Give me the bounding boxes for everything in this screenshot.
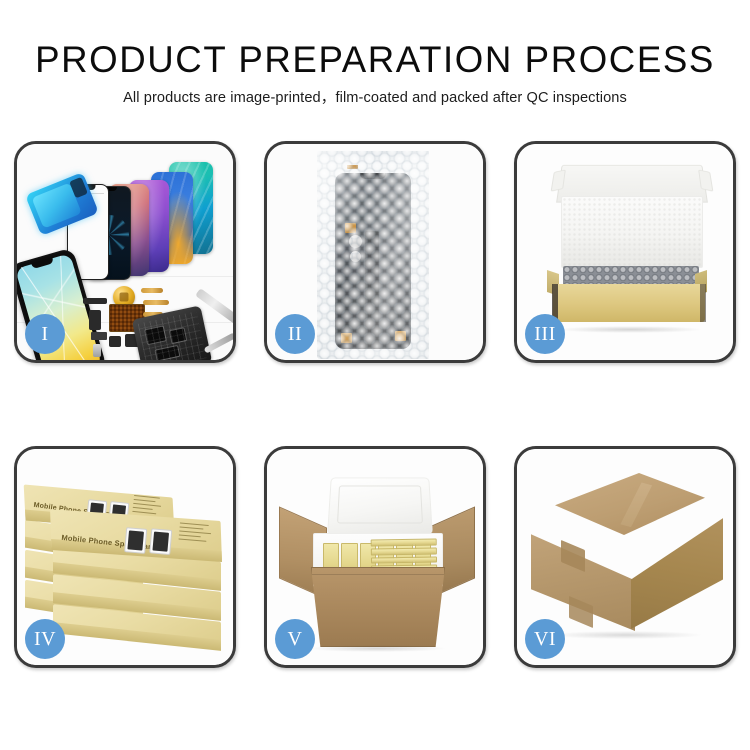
box-layer <box>53 583 221 609</box>
carton-right-face <box>631 511 723 629</box>
foam-lid-icon <box>327 477 433 534</box>
flex-cable-icon <box>141 288 163 293</box>
flex-cable-2-icon <box>143 300 169 305</box>
process-steps-grid: I <box>14 141 736 668</box>
product-preparation-infographic: PRODUCT PREPARATION PROCESS All products… <box>0 0 750 750</box>
panel-step-5[interactable]: V <box>264 446 486 668</box>
carton-body <box>311 567 445 647</box>
connector-icon <box>89 310 101 330</box>
step-badge-6: VI <box>525 619 565 659</box>
step-badge-1: I <box>25 314 65 354</box>
box-layer <box>53 613 221 639</box>
panel-step-1[interactable]: I <box>14 141 236 363</box>
panel-step-2[interactable]: II <box>264 141 486 363</box>
bubble-wrap-bag-icon <box>317 151 429 359</box>
mailer-front-panel <box>553 284 705 322</box>
camera-module-icon <box>93 344 101 357</box>
printed-box-second: Mobile Phone Spare Parts <box>50 512 221 558</box>
panel-step-3[interactable]: III <box>514 141 736 363</box>
sealed-carton-icon <box>531 473 723 641</box>
page-title: PRODUCT PREPARATION PROCESS <box>4 0 747 78</box>
header: PRODUCT PREPARATION PROCESS All products… <box>0 0 750 106</box>
panel-step-4[interactable]: Mobile Phone Spare Parts <box>14 446 236 668</box>
foam-sheet-icon <box>561 196 703 268</box>
taptic-engine-icon <box>109 336 121 347</box>
speaker-mesh-icon <box>83 298 107 304</box>
panel-step-6[interactable]: VI <box>514 446 736 668</box>
yellow-mailer-box-icon <box>541 154 713 329</box>
step-badge-4: IV <box>25 619 65 659</box>
page-subtitle: All products are image-printed，film-coat… <box>0 78 750 106</box>
step-badge-3: III <box>525 314 565 354</box>
step-badge-2: II <box>275 314 315 354</box>
step-badge-5: V <box>275 619 315 659</box>
small-module-icon <box>91 332 107 340</box>
